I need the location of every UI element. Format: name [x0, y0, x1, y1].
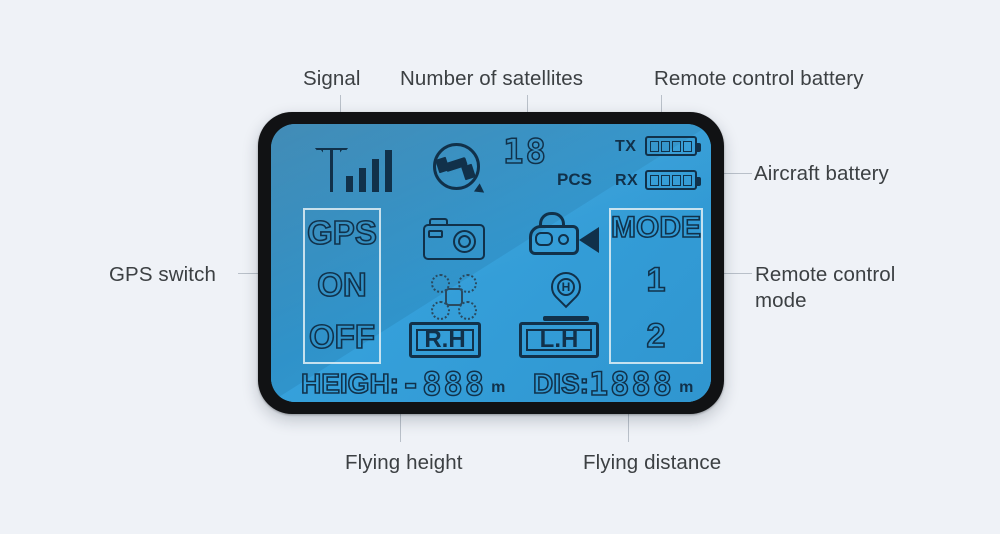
- callout-label-rc-mode-line1: Remote control: [755, 262, 895, 287]
- callout-label-flying-height: Flying height: [345, 450, 463, 475]
- tx-battery-icon: [645, 136, 697, 156]
- stick-mode-rh[interactable]: R.H: [409, 322, 481, 358]
- camera-icon: [423, 216, 485, 260]
- stick-mode-lh-label: L.H: [526, 329, 592, 351]
- home-point-glyph: H: [557, 278, 575, 296]
- callout-label-signal: Signal: [303, 66, 361, 91]
- satellite-count-unit: PCS: [557, 170, 592, 190]
- lcd-screen: 18 PCS TX RX GPS ON OFF: [271, 124, 711, 402]
- distance-label: DIS:: [533, 369, 589, 399]
- link-battery-group: TX RX: [615, 136, 711, 198]
- callout-label-satellites: Number of satellites: [400, 66, 583, 91]
- gps-title: GPS: [305, 216, 379, 249]
- gps-option-off[interactable]: OFF: [305, 320, 379, 353]
- height-label: HEIGH:: [301, 369, 399, 399]
- lcd-display-device: 18 PCS TX RX GPS ON OFF: [258, 112, 724, 414]
- gps-option-on[interactable]: ON: [305, 268, 379, 301]
- video-camera-icon: [529, 212, 601, 262]
- satellite-count-value: 18: [503, 136, 548, 168]
- signal-bar-2: [359, 168, 366, 192]
- height-unit: m: [491, 379, 505, 397]
- flying-height-readout: HEIGH: - 888 m: [301, 368, 505, 400]
- callout-label-flying-distance: Flying distance: [583, 450, 721, 475]
- mode-option-2[interactable]: 2: [611, 318, 701, 354]
- gps-switch-box[interactable]: GPS ON OFF: [303, 208, 381, 364]
- distance-digits: 1888: [589, 368, 674, 400]
- signal-bar-1: [346, 176, 353, 192]
- callout-label-rc-battery: Remote control battery: [654, 66, 864, 91]
- signal-strength-indicator: [311, 142, 399, 194]
- rx-label: RX: [615, 172, 638, 190]
- satellite-orbit-icon: [429, 140, 487, 196]
- quadcopter-icon: [431, 274, 479, 322]
- tx-label: TX: [615, 138, 636, 156]
- callout-label-rc-mode-line2: mode: [755, 288, 807, 313]
- flying-distance-readout: DIS: 1888 m: [533, 368, 693, 400]
- rx-battery-icon: [645, 170, 697, 190]
- mode-title: MODE: [611, 212, 701, 244]
- signal-bar-4: [385, 150, 392, 192]
- callout-label-gps-switch: GPS switch: [109, 262, 216, 287]
- signal-bar-3: [372, 159, 379, 192]
- return-home-point-icon: H: [543, 272, 589, 324]
- remote-control-mode-box[interactable]: MODE 1 2: [609, 208, 703, 364]
- stick-mode-rh-label: R.H: [416, 329, 474, 351]
- diagram-canvas: Signal Number of satellites Remote contr…: [0, 0, 1000, 534]
- callout-label-aircraft-battery: Aircraft battery: [754, 161, 889, 186]
- distance-unit: m: [679, 379, 693, 397]
- height-sign: -: [401, 368, 422, 400]
- stick-mode-lh[interactable]: L.H: [519, 322, 599, 358]
- mode-option-1[interactable]: 1: [611, 262, 701, 298]
- height-digits: 888: [422, 368, 486, 400]
